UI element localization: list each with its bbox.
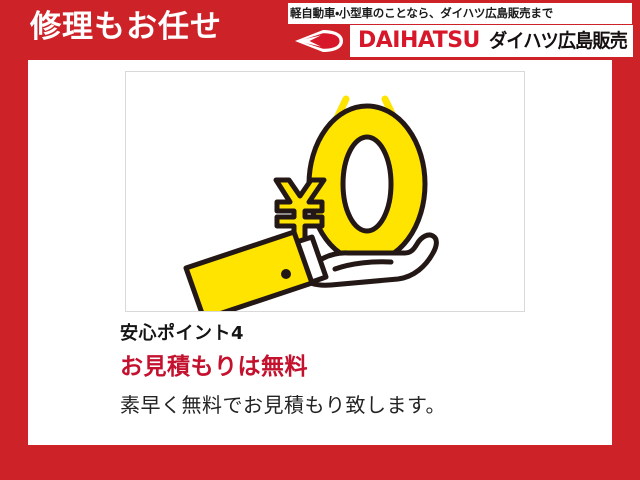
daihatsu-wordmark: DAIHATSU: [358, 29, 480, 53]
yen-zero-hand-illustration: [126, 72, 524, 311]
brand-logo-row: DAIHATSU ダイハツ広島販売: [288, 25, 632, 57]
illustration-frame: [125, 71, 525, 312]
promo-slide: 修理もお任せ 軽自動車・小型車のことなら、ダイハツ広島販売まで DAIHATSU…: [0, 0, 640, 480]
header-bar: 修理もお任せ 軽自動車・小型車のことなら、ダイハツ広島販売まで DAIHATSU…: [0, 0, 640, 60]
footer-band: [0, 445, 640, 480]
caption-block: 安心ポイント4 お見積もりは無料 素早く無料でお見積もり致します。: [120, 322, 590, 419]
yen-symbol-glyph: [276, 180, 324, 242]
content-card: 安心ポイント4 お見積もりは無料 素早く無料でお見積もり致します。: [28, 60, 612, 445]
sleeve-button-dot: [281, 269, 291, 279]
daihatsu-d-emblem-icon: [293, 28, 345, 54]
brand-wordmark-container: DAIHATSU ダイハツ広島販売: [350, 25, 633, 57]
brand-tagline-container: 軽自動車・小型車のことなら、ダイハツ広島販売まで: [288, 3, 632, 24]
daihatsu-emblem-container: [288, 25, 350, 57]
caption-headline: お見積もりは無料: [120, 352, 590, 382]
point-label: 安心ポイント4: [120, 322, 590, 346]
page-title: 修理もお任せ: [30, 8, 222, 46]
dealer-name: ダイハツ広島販売: [489, 30, 627, 52]
brand-tagline: 軽自動車・小型車のことなら、ダイハツ広島販売まで: [288, 7, 553, 20]
brand-block: 軽自動車・小型車のことなら、ダイハツ広島販売まで DAIHATSU ダイハツ広島…: [288, 3, 634, 57]
zero-glyph: [309, 106, 425, 262]
caption-body: 素早く無料でお見積もり致します。: [120, 391, 590, 419]
